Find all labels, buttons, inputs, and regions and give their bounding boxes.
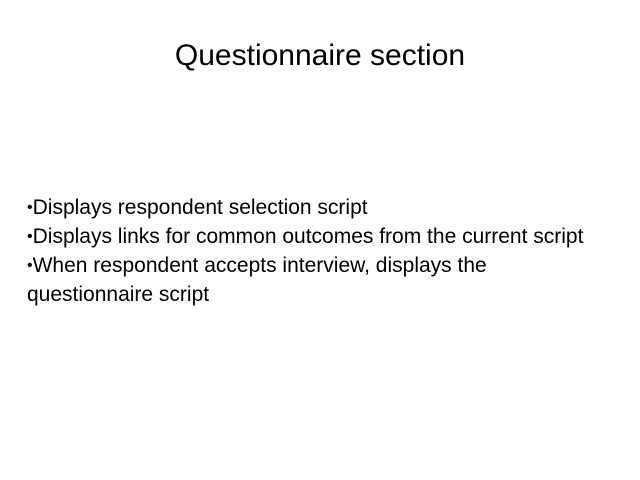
list-item: •Displays links for common outcomes from… bbox=[27, 222, 613, 251]
list-item: •When respondent accepts interview, disp… bbox=[27, 251, 613, 309]
list-item-label: When respondent accepts interview, displ… bbox=[27, 254, 487, 306]
list-item-label: Displays respondent selection script bbox=[33, 196, 368, 219]
slide-body-text: •Displays respondent selection script •D… bbox=[27, 193, 613, 309]
list-item: •Displays respondent selection script bbox=[27, 193, 613, 222]
page-title: Questionnaire section bbox=[0, 38, 640, 74]
list-item-label: Displays links for common outcomes from … bbox=[33, 225, 584, 248]
slide-canvas: Questionnaire section •Displays responde… bbox=[0, 0, 640, 480]
